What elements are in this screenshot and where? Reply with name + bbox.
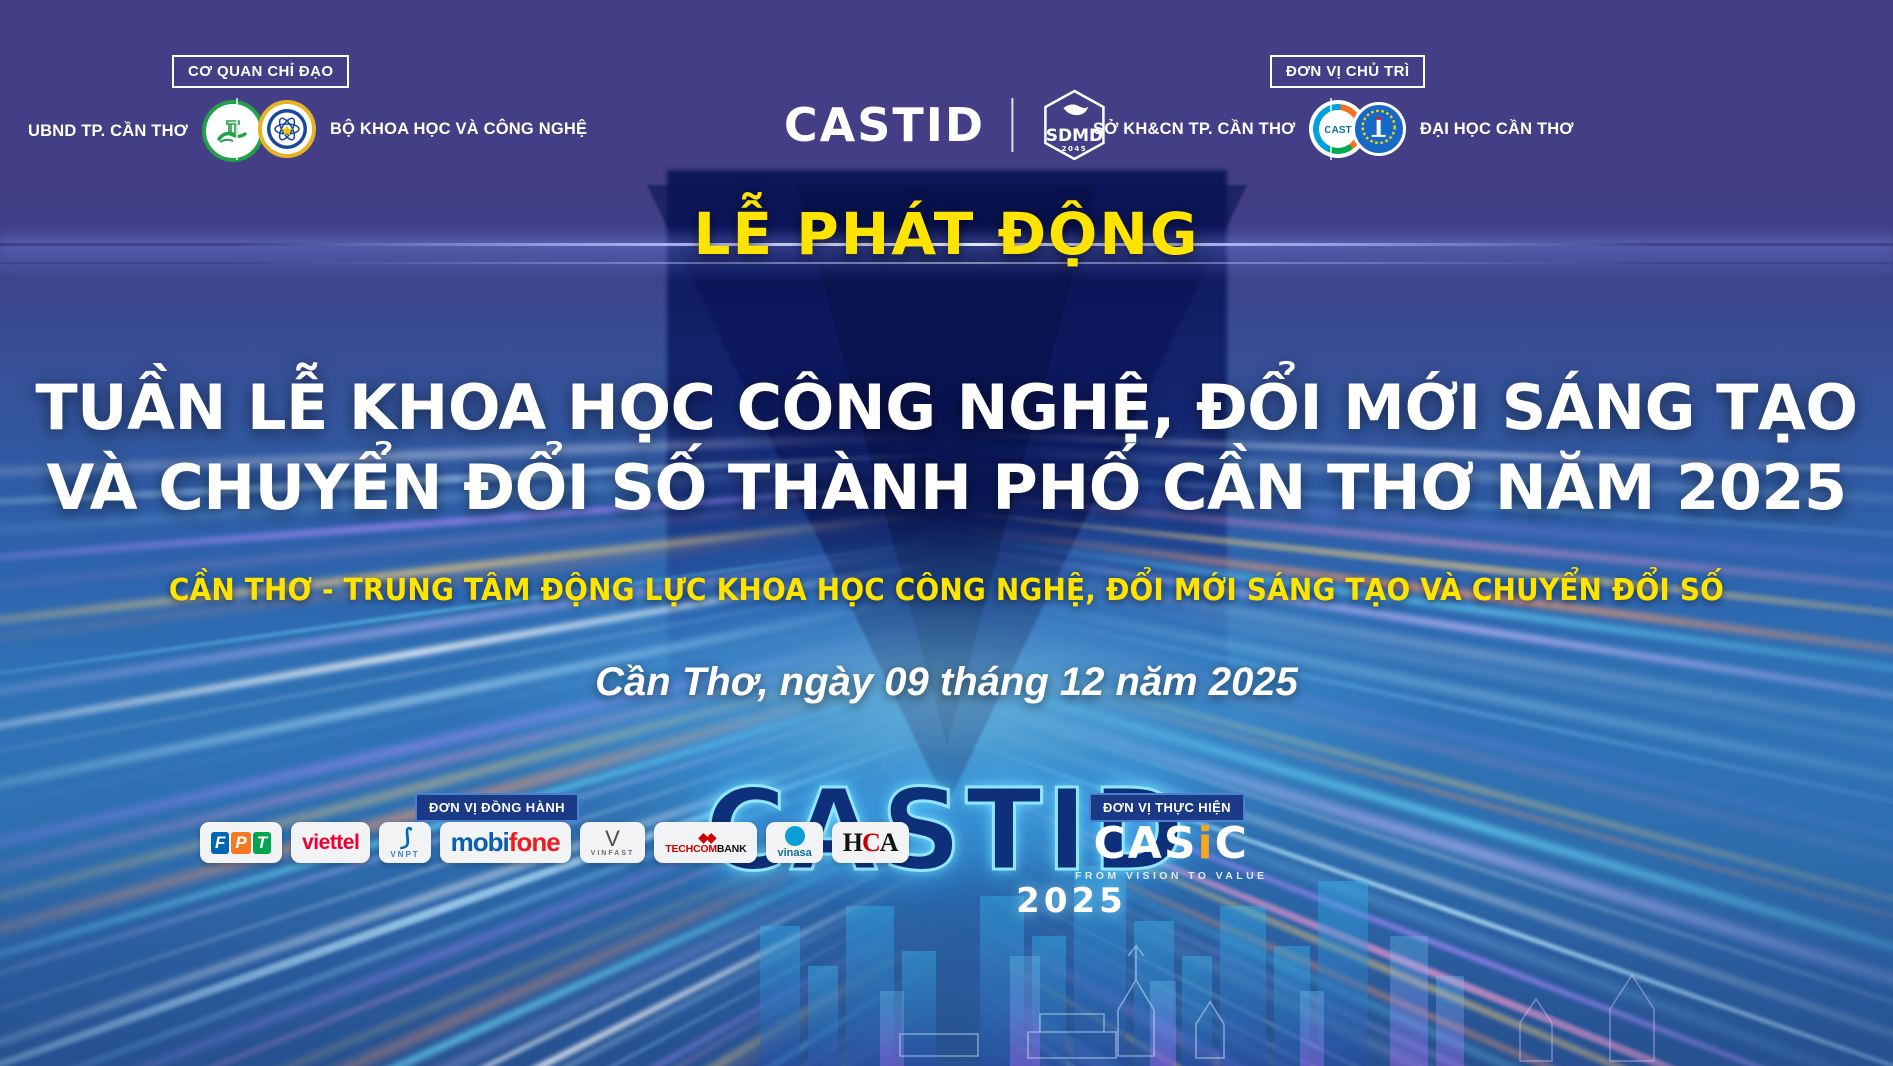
launch-ceremony-label: LỄ PHÁT ĐỘNG [0, 200, 1893, 268]
header-divider-left [236, 98, 238, 160]
org-label: SỞ KH&CN TP. CẦN THƠ [1093, 120, 1295, 139]
castid-wordmark: CASTID [784, 98, 985, 152]
vinfast-logo-icon: V VINFAST [591, 828, 635, 857]
sponsor-vinfast[interactable]: V VINFAST [580, 822, 646, 863]
casic-wordmark: CASiC [1075, 822, 1267, 866]
hca-logo-icon: HCA [843, 828, 898, 858]
svg-text:2045: 2045 [1061, 145, 1086, 153]
casic-organizer-logo: CASiC FROM VISION TO VALUE [1075, 822, 1267, 882]
org-label: UBND TP. CẦN THƠ [28, 122, 188, 141]
casic-tagline: FROM VISION TO VALUE [1075, 870, 1267, 882]
sponsor-hca[interactable]: HCA [832, 822, 909, 863]
sponsor-techcombank[interactable]: ◆◆ TECHCOMBANK [654, 822, 757, 863]
directing-agency-tag: CƠ QUAN CHỈ ĐẠO [172, 55, 349, 88]
org-dai-hoc-can-tho: ĐẠI HỌC CẦN THƠ [1352, 102, 1574, 156]
event-title-line-2: VÀ CHUYỂN ĐỔI SỐ THÀNH PHỐ CẦN THƠ NĂM 2… [0, 455, 1893, 521]
mobifone-logo-icon: mobifone [451, 827, 560, 858]
banner-header: CƠ QUAN CHỈ ĐẠO ĐƠN VỊ CHỦ TRÌ UBND TP. … [0, 0, 1893, 180]
org-so-khcn: SỞ KH&CN TP. CẦN THƠ CAST [1093, 100, 1367, 158]
casic-text: CASiC [1094, 818, 1249, 869]
vinasa-logo-icon: vinasa [777, 826, 811, 859]
viettel-logo-label: viettel [302, 831, 359, 855]
sponsor-vinasa[interactable]: vinasa [766, 822, 822, 863]
sponsor-fpt[interactable]: FPT [200, 822, 282, 863]
event-date: Cần Thơ, ngày 09 tháng 12 năm 2025 [0, 660, 1893, 705]
sponsor-viettel[interactable]: viettel [291, 822, 370, 863]
org-ubnd-can-tho: UBND TP. CẦN THƠ [28, 100, 264, 162]
org-label: BỘ KHOA HỌC VÀ CÔNG NGHỆ [330, 120, 587, 139]
header-divider-right [1330, 98, 1332, 160]
ministry-science-technology-seal-icon [258, 100, 316, 158]
can-tho-university-seal-icon [1341, 91, 1417, 167]
org-bo-khcn: BỘ KHOA HỌC VÀ CÔNG NGHỆ [258, 100, 587, 158]
castid-header-logo: CASTID SDMD 2045 [784, 88, 1109, 162]
vinfast-logo-label: VINFAST [591, 850, 635, 857]
vnpt-logo-icon: ⟆ VNPT [390, 826, 419, 859]
techcombank-logo-icon: ◆◆ TECHCOMBANK [665, 830, 746, 856]
sponsor-logo-row: FPT viettel ⟆ VNPT mobifone V VINFAST ◆◆ [200, 822, 909, 863]
event-banner: CƠ QUAN CHỈ ĐẠO ĐƠN VỊ CHỦ TRÌ UBND TP. … [0, 0, 1893, 1066]
seal-inner [1360, 108, 1398, 151]
logo-divider [1011, 98, 1013, 152]
sponsor-vnpt[interactable]: ⟆ VNPT [379, 822, 430, 863]
event-title-line-1: TUẦN LỄ KHOA HỌC CÔNG NGHỆ, ĐỔI MỚI SÁNG… [0, 375, 1893, 441]
can-tho-city-seal-icon [202, 100, 264, 162]
svg-text:CAST: CAST [1325, 125, 1352, 136]
sponsor-mobifone[interactable]: mobifone [440, 822, 571, 863]
event-slogan: CẦN THƠ - TRUNG TÂM ĐỘNG LỰC KHOA HỌC CÔ… [66, 573, 1826, 608]
fpt-logo-icon: FPT [211, 832, 271, 854]
org-label: ĐẠI HỌC CẦN THƠ [1420, 120, 1574, 139]
host-unit-tag: ĐƠN VỊ CHỦ TRÌ [1270, 55, 1425, 88]
vnpt-logo-label: VNPT [390, 851, 419, 859]
vinasa-logo-label: vinasa [777, 848, 811, 859]
partners-tag: ĐƠN VỊ ĐỒNG HÀNH [415, 793, 579, 822]
